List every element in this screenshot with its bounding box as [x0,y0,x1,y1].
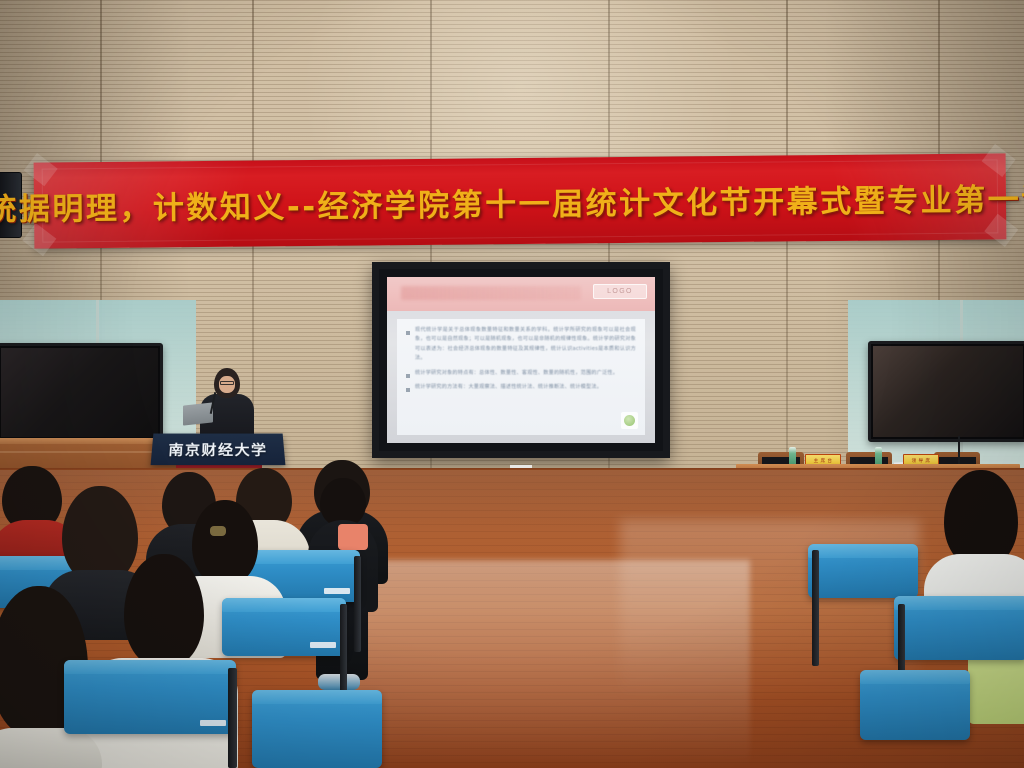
seat-number-tag [200,720,226,726]
glasses-icon [220,381,234,385]
seat-headrest [64,660,236,674]
laptop [183,402,213,425]
person-shoe [318,674,360,690]
slide-bullet: 统计学研究对象的特点有：总体性、数量性、客观性、数量的随机性，范围的广泛性。 [406,369,636,378]
auditorium-seat[interactable] [860,670,970,740]
seat-headrest [860,670,970,684]
seat-headrest [222,598,346,612]
television-left [0,343,163,442]
seat-headrest [252,690,382,704]
seat-leg [228,668,237,768]
slide-bullet-text: 统计学研究的方法有：大量观察法、描述性统计法、统计推断法、统计模型法。 [415,383,602,392]
tv-screen [873,346,1023,437]
auditorium-seat[interactable] [222,598,346,656]
slide-title-blurred [401,286,581,300]
lecture-hall-photo: 统据明理，计数知义--经济学院第十一届统计文化节开幕式暨专业第一课 LOGO 现… [0,0,1024,768]
seat-headrest [808,544,918,558]
slide-bullet-text: 统计学研究对象的特点有：总体性、数量性、客观性、数量的随机性，范围的广泛性。 [415,369,618,378]
person-head [124,554,204,666]
slide-header-bar: LOGO [387,277,655,311]
person-torso [0,728,102,768]
bullet-marker-icon [406,374,410,378]
auditorium-seat[interactable] [894,596,1024,660]
slide-bullet: 统计学研究的方法有：大量观察法、描述性统计法、统计推断法、统计模型法。 [406,383,636,392]
auditorium-seat[interactable] [252,690,382,768]
green-circle-logo-icon [621,412,638,429]
television-right [868,341,1024,442]
tv-screen [1,348,158,437]
bullet-marker-icon [406,388,410,392]
slide-logo-placeholder: LOGO [593,284,647,299]
seat-leg [812,550,819,666]
seat-number-tag [310,642,336,648]
seat-number-tag [324,588,350,594]
wall-light-glow [300,0,740,290]
seat-leg [354,556,361,652]
slide-bullet-text: 现代统计学是关于总体现象数量特征和数量关系的学科。统计学所研究的现象可以是社会现… [415,326,636,364]
auditorium-seat[interactable] [64,660,236,734]
slide-bullet: 现代统计学是关于总体现象数量特征和数量关系的学科。统计学所研究的现象可以是社会现… [406,326,636,364]
slide-content: 现代统计学是关于总体现象数量特征和数量关系的学科。统计学所研究的现象可以是社会现… [397,319,645,435]
seat-headrest [894,596,1024,610]
bullet-marker-icon [406,331,410,335]
person-collar [338,524,368,550]
person-head [944,470,1018,566]
lectern: 南京财经大学 [151,434,286,466]
presentation-slide: LOGO 现代统计学是关于总体现象数量特征和数量关系的学科。统计学所研究的现象可… [387,277,655,443]
person-head [320,478,366,526]
auditorium-seat[interactable] [808,544,918,598]
screen-surface: LOGO 现代统计学是关于总体现象数量特征和数量关系的学科。统计学所研究的现象可… [387,277,655,443]
event-banner: 统据明理，计数知义--经济学院第十一届统计文化节开幕式暨专业第一课 [34,153,1007,248]
projection-screen: LOGO 现代统计学是关于总体现象数量特征和数量关系的学科。统计学所研究的现象可… [372,262,670,458]
hair-clip-icon [210,526,226,536]
lectern-institution-name: 南京财经大学 [168,439,268,458]
table-microphone-icon [958,436,960,466]
